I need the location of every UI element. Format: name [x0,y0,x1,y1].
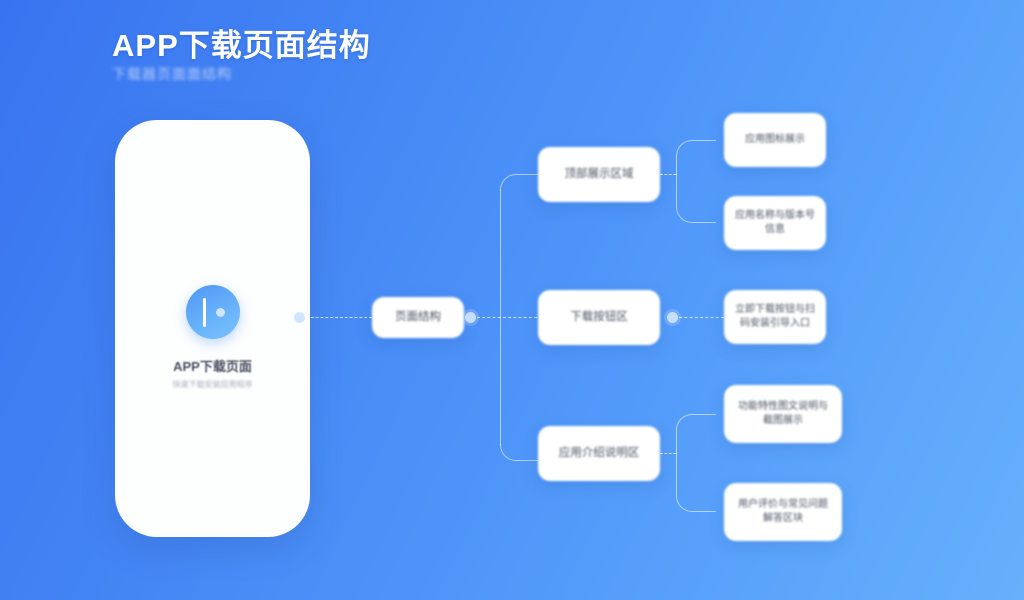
connector-branch-2-to-leaf [679,317,724,318]
app-logo-bar-shape [203,298,206,327]
connector-phone-to-root [306,317,372,318]
node-leaf-1[interactable]: 应用图标展示 [724,113,826,167]
page-subtitle: 下载器页面面结构 [112,64,232,84]
connector-elbow-leaf-2 [676,174,716,223]
node-leaf-2[interactable]: 应用名称与版本号信息 [724,196,826,250]
node-leaf-3[interactable]: 立即下载按钮与扫码安装引导入口 [724,290,826,344]
connector-dot-branch-2 [667,312,678,323]
connector-elbow-leaf-4 [676,414,716,454]
connector-elbow-branch-3 [500,444,538,461]
app-logo-circle-icon [186,285,240,339]
connector-elbow-leaf-1 [676,140,716,175]
node-root[interactable]: 页面结构 [372,297,464,338]
phone-mockup: APP下载页面 快速下载安装应用程序 [115,120,310,537]
connector-dot-phone [294,312,305,323]
connector-trunk-vertical [500,190,501,445]
connector-elbow-branch-1 [500,174,538,191]
connector-root-to-trunk [477,317,537,318]
connector-elbow-leaf-5 [676,453,716,512]
phone-app-name: APP下载页面 [115,356,310,375]
phone-app-tagline: 快速下载安装应用程序 [115,379,310,390]
node-leaf-4[interactable]: 功能特性图文说明与截图展示 [724,385,842,443]
connector-branch-3-stub [660,453,676,454]
diagram-canvas: APP下载页面结构 下载器页面面结构 APP下载页面 快速下载安装应用程序 页面… [0,0,1024,600]
node-branch-2[interactable]: 下载按钮区 [538,290,660,345]
node-branch-1[interactable]: 顶部展示区域 [538,147,660,202]
app-logo-dot-shape [216,308,225,317]
node-branch-3[interactable]: 应用介绍说明区 [538,426,660,481]
connector-branch-1-stub [660,174,676,175]
connector-dot-root [465,312,476,323]
node-leaf-5[interactable]: 用户评价与常见问题解答区块 [724,483,842,541]
page-title: APP下载页面结构 [112,20,371,65]
